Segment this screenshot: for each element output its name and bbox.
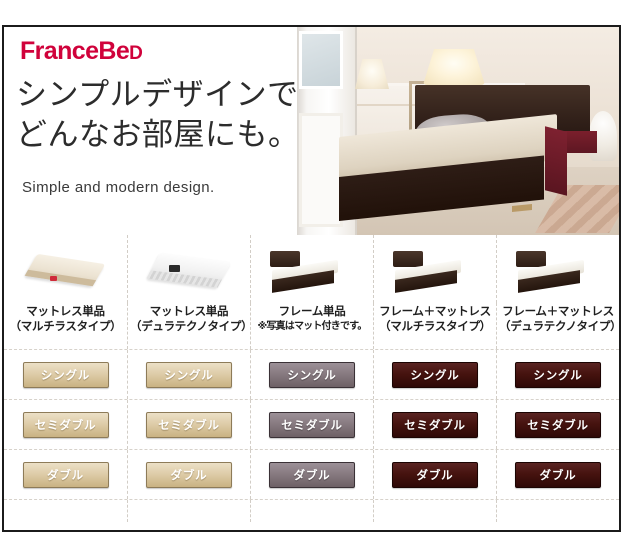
- double-col-2: ダブル: [250, 450, 373, 499]
- tail-col-4: [496, 500, 619, 522]
- caption-line-1: マットレス単品: [26, 306, 104, 318]
- double-col-4: ダブル: [496, 450, 619, 499]
- size-button-double-frame-only[interactable]: ダブル: [269, 462, 355, 488]
- button-cell: シングル: [373, 350, 496, 399]
- product-caption: フレーム＋マットレス （デュラテクノタイプ）: [496, 303, 619, 349]
- single-col-4: シングル: [496, 350, 619, 399]
- tail-divider: [496, 500, 619, 522]
- product-column-mattress-duratechno: [127, 235, 250, 303]
- bed-frame-thumb: [389, 245, 481, 293]
- size-button-single-frame-only[interactable]: シングル: [269, 362, 355, 388]
- single-col-0: シングル: [4, 350, 127, 399]
- thumbnail-row: [4, 235, 619, 303]
- mattress-label-tag: [50, 276, 57, 281]
- semidouble-col-3: セミダブル: [373, 400, 496, 449]
- page-root: FranceBeD シンプルデザインで どんなお部屋にも。 Simple and…: [0, 0, 625, 539]
- thumb-cell: [250, 235, 373, 303]
- caption-col-4: フレーム＋マットレス （デュラテクノタイプ）: [496, 303, 619, 349]
- size-row-single: シングル シングル シングル シングル シングル: [4, 350, 619, 399]
- button-cell: シングル: [4, 350, 127, 399]
- product-caption: マットレス単品 （デュラテクノタイプ）: [127, 303, 250, 349]
- button-cell: セミダブル: [373, 400, 496, 449]
- bed-frame-thumb: [512, 245, 604, 293]
- francebed-logo: FranceBeD: [20, 39, 142, 64]
- button-cell: シングル: [250, 350, 373, 399]
- headline-line-2: どんなお部屋にも。: [16, 115, 326, 155]
- double-col-0: ダブル: [4, 450, 127, 499]
- caption-col-1: マットレス単品 （デュラテクノタイプ）: [127, 303, 250, 349]
- double-col-1: ダブル: [127, 450, 250, 499]
- product-grid: マットレス単品 （マルチラスタイプ） マットレス単品 （デュラテクノタイプ） フ…: [4, 235, 619, 530]
- grid-tail: [4, 500, 619, 522]
- size-button-semidouble-frame-only[interactable]: セミダブル: [269, 412, 355, 438]
- product-column-frame-mattress-duratechno: [496, 235, 619, 303]
- double-col-3: ダブル: [373, 450, 496, 499]
- caption-line-1: フレーム単品: [279, 306, 346, 318]
- product-caption: フレーム＋マットレス （マルチラスタイプ）: [373, 303, 496, 349]
- promo-panel: FranceBeD シンプルデザインで どんなお部屋にも。 Simple and…: [2, 25, 621, 532]
- tail-divider: [373, 500, 496, 522]
- bedroom-photo: [297, 27, 619, 235]
- caption-line-2: （デュラテクノタイプ）: [499, 320, 617, 335]
- size-button-double-mattress-multilas[interactable]: ダブル: [23, 462, 109, 488]
- semidouble-col-1: セミダブル: [127, 400, 250, 449]
- mattress-body: [147, 252, 232, 287]
- button-cell: ダブル: [127, 450, 250, 499]
- frame-headboard: [393, 251, 423, 267]
- caption-col-2: フレーム単品 ※写真はマット付きです。: [250, 303, 373, 349]
- single-col-3: シングル: [373, 350, 496, 399]
- thumb-cell: [127, 235, 250, 303]
- caption-note: ※写真はマット付きです。: [253, 320, 371, 333]
- size-row-semi-double: セミダブル セミダブル セミダブル セミダブル セミダブル: [4, 400, 619, 449]
- button-cell: セミダブル: [496, 400, 619, 449]
- button-cell: ダブル: [250, 450, 373, 499]
- tail-col-2: [250, 500, 373, 522]
- single-col-1: シングル: [127, 350, 250, 399]
- headline-line-1: シンプルデザインで: [16, 75, 326, 115]
- size-button-double-frame-mattress-multilas[interactable]: ダブル: [392, 462, 478, 488]
- caption-line-2: （マルチラスタイプ）: [6, 320, 125, 335]
- caption-col-0: マットレス単品 （マルチラスタイプ）: [4, 303, 127, 349]
- page-title: シンプルデザインで どんなお部屋にも。: [16, 75, 326, 154]
- tail-divider: [250, 500, 373, 522]
- button-cell: シングル: [127, 350, 250, 399]
- button-cell: セミダブル: [4, 400, 127, 449]
- button-cell: セミダブル: [250, 400, 373, 449]
- size-button-single-frame-mattress-multilas[interactable]: シングル: [392, 362, 478, 388]
- caption-line-2: （マルチラスタイプ）: [376, 320, 494, 335]
- product-column-mattress-multilas: [4, 235, 127, 303]
- caption-line-2: （デュラテクノタイプ）: [130, 320, 248, 335]
- semidouble-col-2: セミダブル: [250, 400, 373, 449]
- hero-copy: FranceBeD シンプルデザインで どんなお部屋にも。 Simple and…: [4, 27, 324, 235]
- mattress-white-thumb: [143, 245, 235, 293]
- size-button-semidouble-frame-mattress-multilas[interactable]: セミダブル: [392, 412, 478, 438]
- button-cell: セミダブル: [127, 400, 250, 449]
- mattress-beige-thumb: [20, 245, 112, 293]
- frame-headboard: [516, 251, 546, 267]
- product-caption: フレーム単品 ※写真はマット付きです。: [250, 303, 373, 349]
- hero-subtitle: Simple and modern design.: [22, 179, 215, 196]
- product-column-frame-only: [250, 235, 373, 303]
- caption-col-3: フレーム＋マットレス （マルチラスタイプ）: [373, 303, 496, 349]
- tail-divider: [127, 500, 250, 522]
- size-button-double-mattress-duratechno[interactable]: ダブル: [146, 462, 232, 488]
- size-button-double-frame-mattress-duratechno[interactable]: ダブル: [515, 462, 601, 488]
- size-button-semidouble-mattress-multilas[interactable]: セミダブル: [23, 412, 109, 438]
- button-cell: シングル: [496, 350, 619, 399]
- semidouble-col-0: セミダブル: [4, 400, 127, 449]
- frame-headboard: [270, 251, 300, 267]
- size-button-single-mattress-multilas[interactable]: シングル: [23, 362, 109, 388]
- product-caption: マットレス単品 （マルチラスタイプ）: [4, 303, 127, 349]
- single-col-2: シングル: [250, 350, 373, 399]
- logo-main-text: FranceBe: [20, 37, 129, 65]
- tail-col-0: [4, 500, 127, 522]
- product-column-frame-mattress-multilas: [373, 235, 496, 303]
- button-cell: ダブル: [496, 450, 619, 499]
- hero-banner: FranceBeD シンプルデザインで どんなお部屋にも。 Simple and…: [4, 27, 619, 235]
- caption-line-1: マットレス単品: [150, 306, 228, 318]
- bed-throw-drape: [545, 126, 567, 195]
- mattress-body: [24, 254, 105, 286]
- tail-col-1: [127, 500, 250, 522]
- thumb-cell: [4, 235, 127, 303]
- mattress-label-tag: [169, 265, 180, 272]
- caption-line-1: フレーム＋マットレス: [502, 306, 614, 318]
- size-row-double: ダブル ダブル ダブル ダブル ダブル: [4, 450, 619, 499]
- thumb-cell: [496, 235, 619, 303]
- button-cell: ダブル: [373, 450, 496, 499]
- caption-row: マットレス単品 （マルチラスタイプ） マットレス単品 （デュラテクノタイプ） フ…: [4, 303, 619, 349]
- size-button-single-frame-mattress-duratechno[interactable]: シングル: [515, 362, 601, 388]
- thumb-cell: [373, 235, 496, 303]
- size-button-single-mattress-duratechno[interactable]: シングル: [146, 362, 232, 388]
- button-cell: ダブル: [4, 450, 127, 499]
- semidouble-col-4: セミダブル: [496, 400, 619, 449]
- caption-line-1: フレーム＋マットレス: [379, 306, 491, 318]
- size-button-semidouble-mattress-duratechno[interactable]: セミダブル: [146, 412, 232, 438]
- bed-frame-thumb: [266, 245, 358, 293]
- size-button-semidouble-frame-mattress-duratechno[interactable]: セミダブル: [515, 412, 601, 438]
- tail-col-3: [373, 500, 496, 522]
- logo-small-text: D: [129, 43, 142, 64]
